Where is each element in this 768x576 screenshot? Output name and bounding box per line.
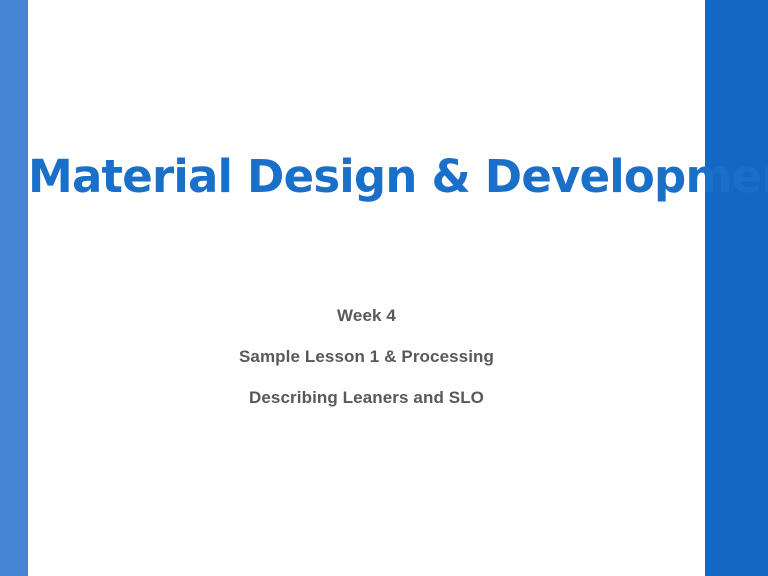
slide-subtitle-block: Week 4 Sample Lesson 1 & Processing Desc… xyxy=(28,295,705,418)
right-accent-bar xyxy=(705,0,768,576)
subtitle-line-topic: Describing Leaners and SLO xyxy=(28,377,705,418)
subtitle-line-week: Week 4 xyxy=(28,295,705,336)
presentation-slide: Material Design & Development Week 4 Sam… xyxy=(0,0,768,576)
slide-title: Material Design & Development xyxy=(28,153,705,202)
slide-content-area: Material Design & Development Week 4 Sam… xyxy=(28,0,705,576)
left-accent-bar xyxy=(0,0,28,576)
subtitle-line-lesson: Sample Lesson 1 & Processing xyxy=(28,336,705,377)
